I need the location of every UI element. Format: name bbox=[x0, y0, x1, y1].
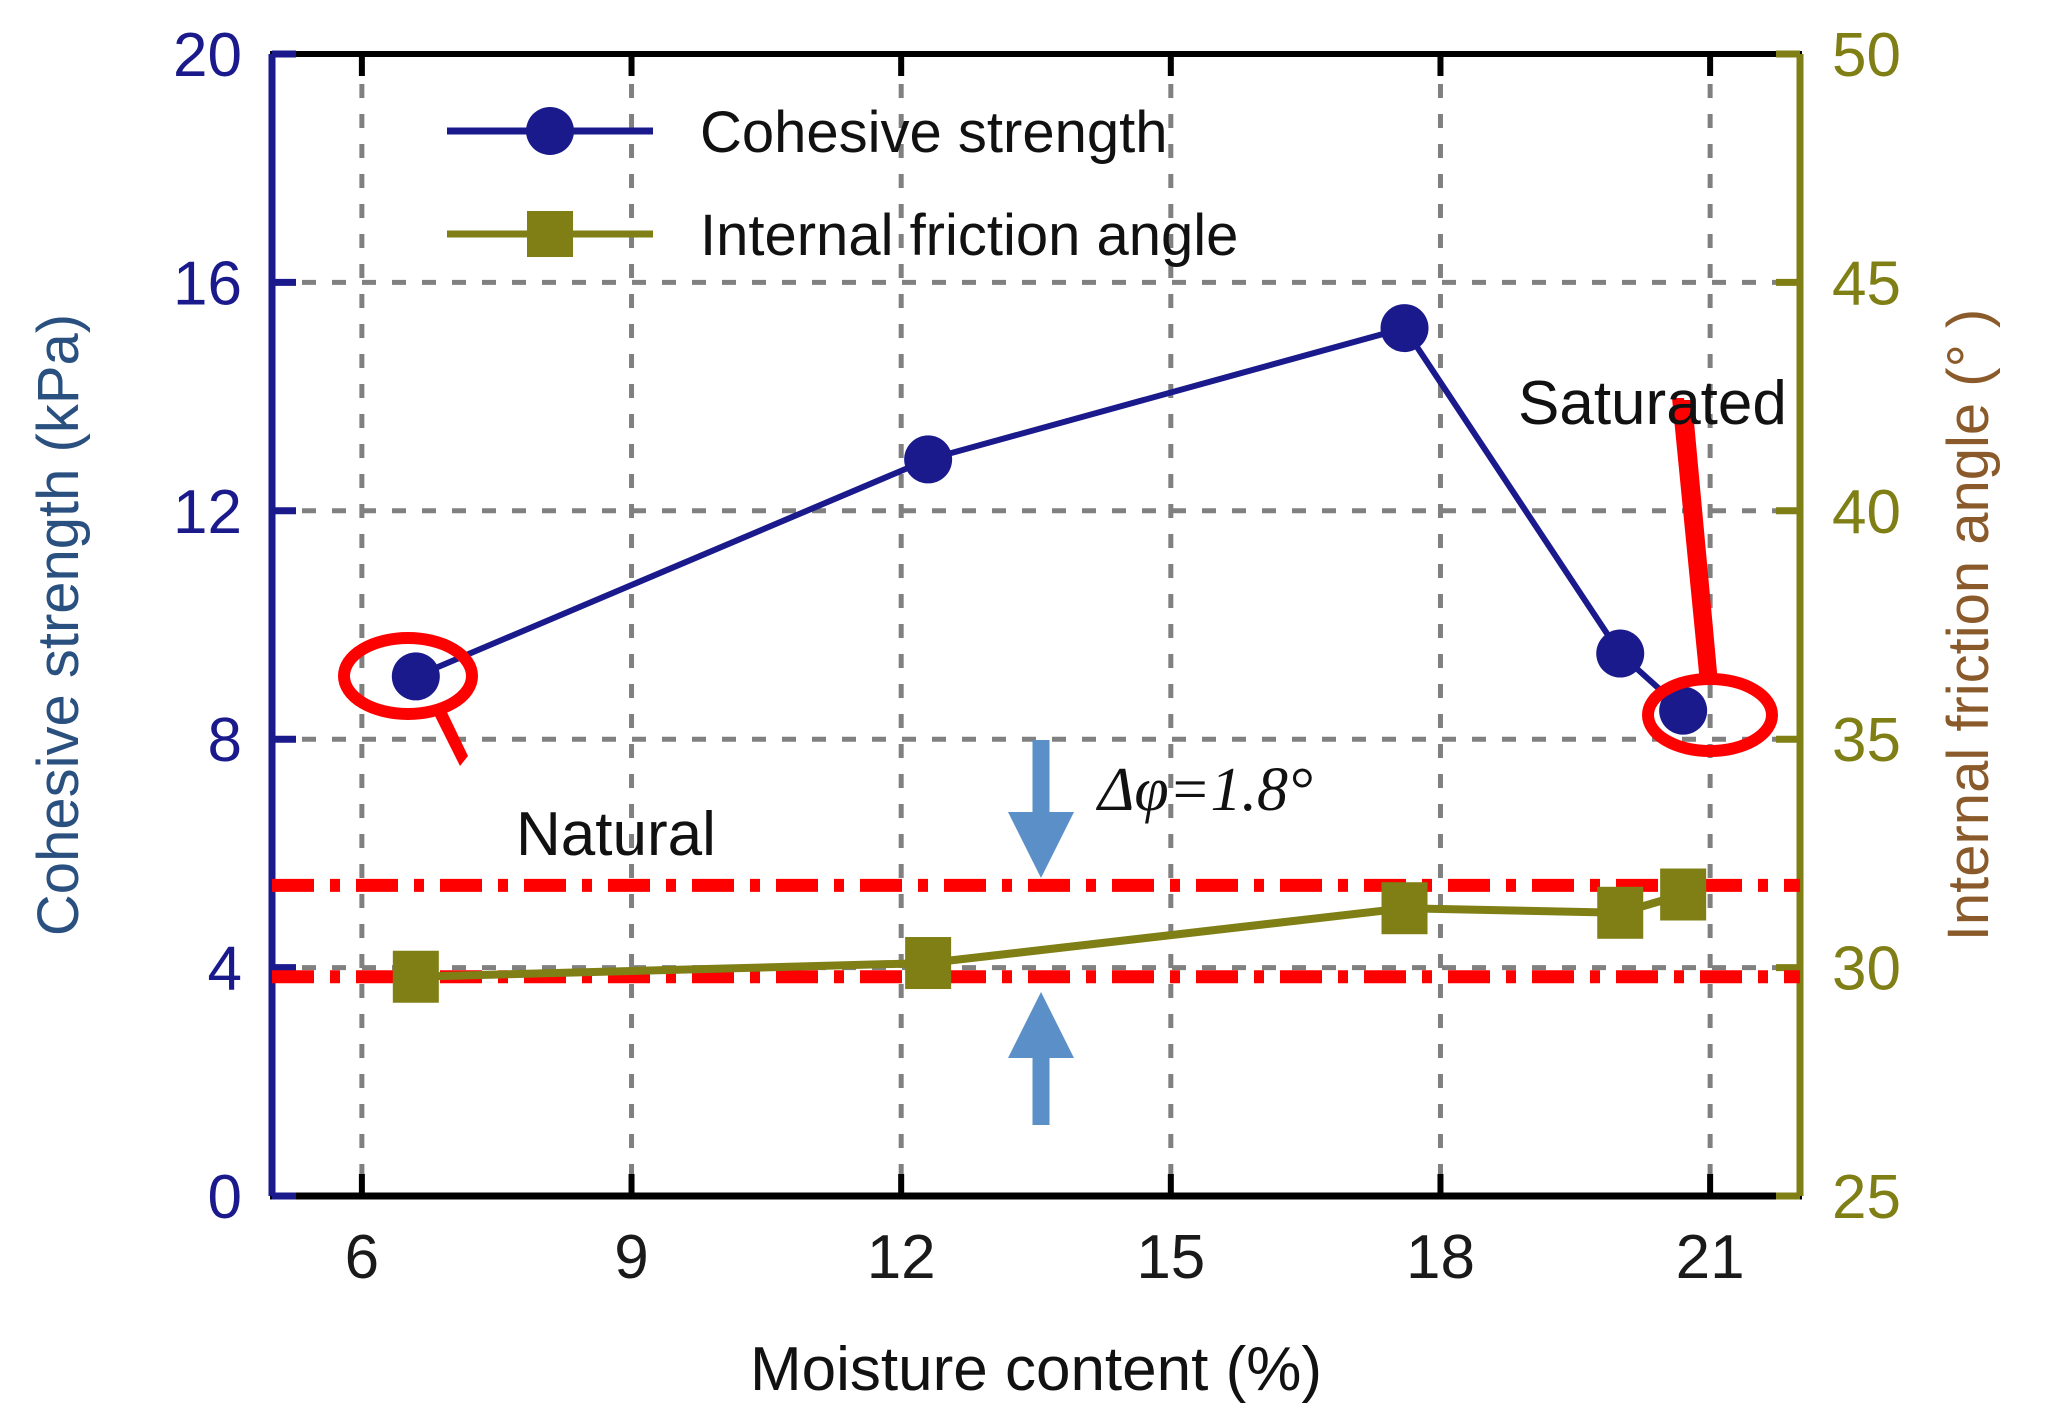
x-tick-label: 15 bbox=[1136, 1223, 1205, 1292]
y2-tick-label: 45 bbox=[1832, 249, 1901, 318]
y2-tick-label: 50 bbox=[1832, 21, 1901, 90]
data-point-cohesive bbox=[904, 435, 952, 483]
legend-label-cohesive: Cohesive strength bbox=[700, 100, 1167, 165]
y2-tick-label: 40 bbox=[1832, 478, 1901, 547]
y2-tick-label: 30 bbox=[1832, 935, 1901, 1004]
chart-canvas: Cohesive strength Internal friction angl… bbox=[0, 0, 2062, 1415]
data-point-cohesive bbox=[1381, 304, 1429, 352]
annotation-delta-phi: Δφ=1.8° bbox=[1095, 756, 1313, 824]
data-point-cohesive bbox=[392, 652, 440, 700]
data-point-friction bbox=[1660, 869, 1706, 921]
y-axis-title: Cohesive strength (kPa) bbox=[26, 314, 91, 936]
annotation-natural: Natural bbox=[516, 800, 716, 869]
x-tick-label: 6 bbox=[345, 1223, 379, 1292]
y-tick-label: 20 bbox=[173, 21, 242, 90]
y2-tick-label: 25 bbox=[1832, 1163, 1901, 1232]
legend-marker-circle-icon bbox=[526, 107, 574, 155]
legend-label-friction: Internal friction angle bbox=[700, 203, 1238, 268]
y-tick-label: 0 bbox=[208, 1163, 242, 1232]
y-tick-label: 12 bbox=[173, 478, 242, 547]
data-point-friction bbox=[1382, 882, 1428, 934]
legend-marker-square-icon bbox=[527, 211, 573, 257]
chart-svg: Cohesive strength Internal friction angl… bbox=[0, 0, 2062, 1415]
y-tick-label: 4 bbox=[208, 935, 242, 1004]
x-axis-title: Moisture content (%) bbox=[750, 1335, 1322, 1404]
y2-axis-title: Internal friction angle (° ) bbox=[1936, 309, 2001, 941]
data-point-cohesive bbox=[1596, 630, 1644, 678]
y2-tick-label: 35 bbox=[1832, 706, 1901, 775]
annotation-saturated: Saturated bbox=[1518, 369, 1787, 438]
data-point-friction bbox=[1597, 887, 1643, 939]
x-tick-label: 18 bbox=[1406, 1223, 1475, 1292]
y-tick-label: 8 bbox=[208, 706, 242, 775]
data-point-friction bbox=[905, 937, 951, 989]
data-point-friction bbox=[393, 951, 439, 1003]
x-tick-label: 9 bbox=[614, 1223, 648, 1292]
x-tick-label: 21 bbox=[1676, 1223, 1745, 1292]
y-tick-label: 16 bbox=[173, 249, 242, 318]
x-tick-label: 12 bbox=[867, 1223, 936, 1292]
